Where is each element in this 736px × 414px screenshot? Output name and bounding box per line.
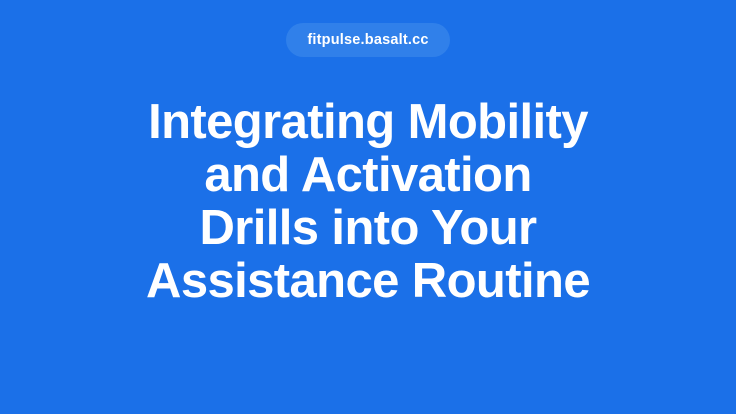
social-card-canvas: fitpulse.basalt.cc Integrating Mobility …: [0, 0, 736, 414]
headline-block: Integrating Mobility and Activation Dril…: [0, 96, 736, 308]
site-domain-badge[interactable]: fitpulse.basalt.cc: [286, 23, 449, 57]
headline-line-1: Integrating Mobility: [40, 96, 696, 149]
site-badge-row: fitpulse.basalt.cc: [0, 23, 736, 57]
headline-line-4: Assistance Routine: [40, 255, 696, 308]
site-domain-label: fitpulse.basalt.cc: [307, 33, 428, 48]
headline-line-3: Drills into Your: [40, 202, 696, 255]
headline-line-2: and Activation: [40, 149, 696, 202]
